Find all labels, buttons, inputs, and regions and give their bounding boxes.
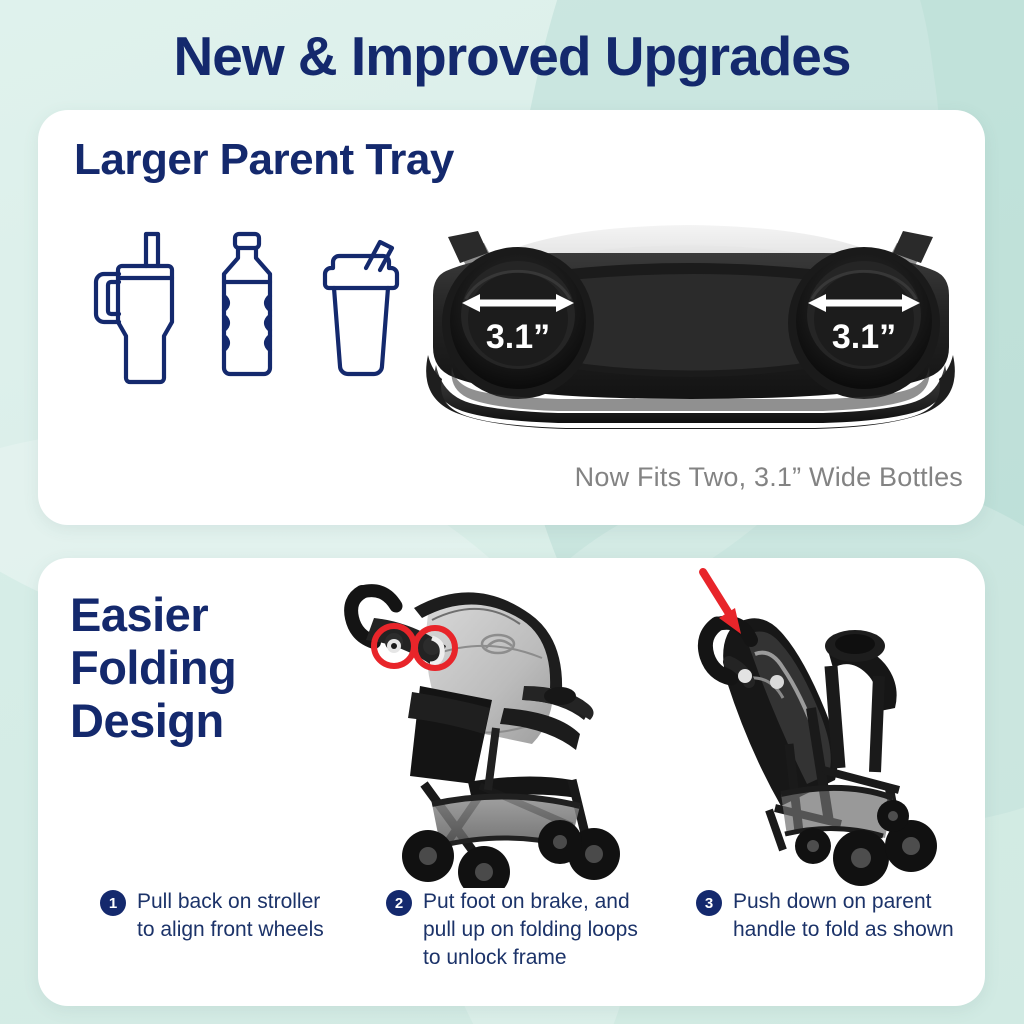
fold-card-heading: Easier Folding Design xyxy=(70,588,236,747)
tray-card-heading: Larger Parent Tray xyxy=(74,134,454,186)
tumbler-with-straw-icon xyxy=(86,226,191,386)
step-2-text: Put foot on brake, and pull up on foldin… xyxy=(423,888,638,972)
fold-heading-line-1: Easier xyxy=(70,588,236,641)
stroller-open-photo xyxy=(328,568,658,888)
parent-tray-photo: 3.1” 3.1” xyxy=(418,215,963,450)
step-1: 1 Pull back on stroller to align front w… xyxy=(100,888,375,944)
fold-heading-line-3: Design xyxy=(70,694,236,747)
step-1-text: Pull back on stroller to align front whe… xyxy=(137,888,324,944)
step-3: 3 Push down on parent handle to fold as … xyxy=(696,888,986,944)
step-1-line-1: Pull back on stroller xyxy=(137,888,324,916)
measure-label-left: 3.1” xyxy=(486,318,550,356)
step-3-text: Push down on parent handle to fold as sh… xyxy=(733,888,954,944)
step-2-line-3: to unlock frame xyxy=(423,944,638,972)
beverage-icons-row xyxy=(68,220,398,390)
step-2-badge: 2 xyxy=(386,890,412,916)
fold-heading-line-2: Folding xyxy=(70,641,236,694)
tray-caption: Now Fits Two, 3.1” Wide Bottles xyxy=(418,462,963,493)
step-3-line-2: handle to fold as shown xyxy=(733,916,954,944)
stroller-folded-photo xyxy=(663,558,993,888)
water-bottle-icon xyxy=(208,230,286,385)
folding-steps: 1 Pull back on stroller to align front w… xyxy=(66,888,961,988)
measure-label-right: 3.1” xyxy=(832,318,896,356)
step-2-line-2: pull up on folding loops xyxy=(423,916,638,944)
step-2: 2 Put foot on brake, and pull up on fold… xyxy=(386,888,671,972)
fountain-cup-icon xyxy=(316,228,406,386)
step-1-line-2: to align front wheels xyxy=(137,916,324,944)
step-2-line-1: Put foot on brake, and xyxy=(423,888,638,916)
step-1-badge: 1 xyxy=(100,890,126,916)
easier-folding-design-card: Easier Folding Design xyxy=(38,558,985,1006)
step-3-badge: 3 xyxy=(696,890,722,916)
larger-parent-tray-card: Larger Parent Tray xyxy=(38,110,985,525)
page-title: New & Improved Upgrades xyxy=(0,18,1024,94)
step-3-line-1: Push down on parent xyxy=(733,888,954,916)
